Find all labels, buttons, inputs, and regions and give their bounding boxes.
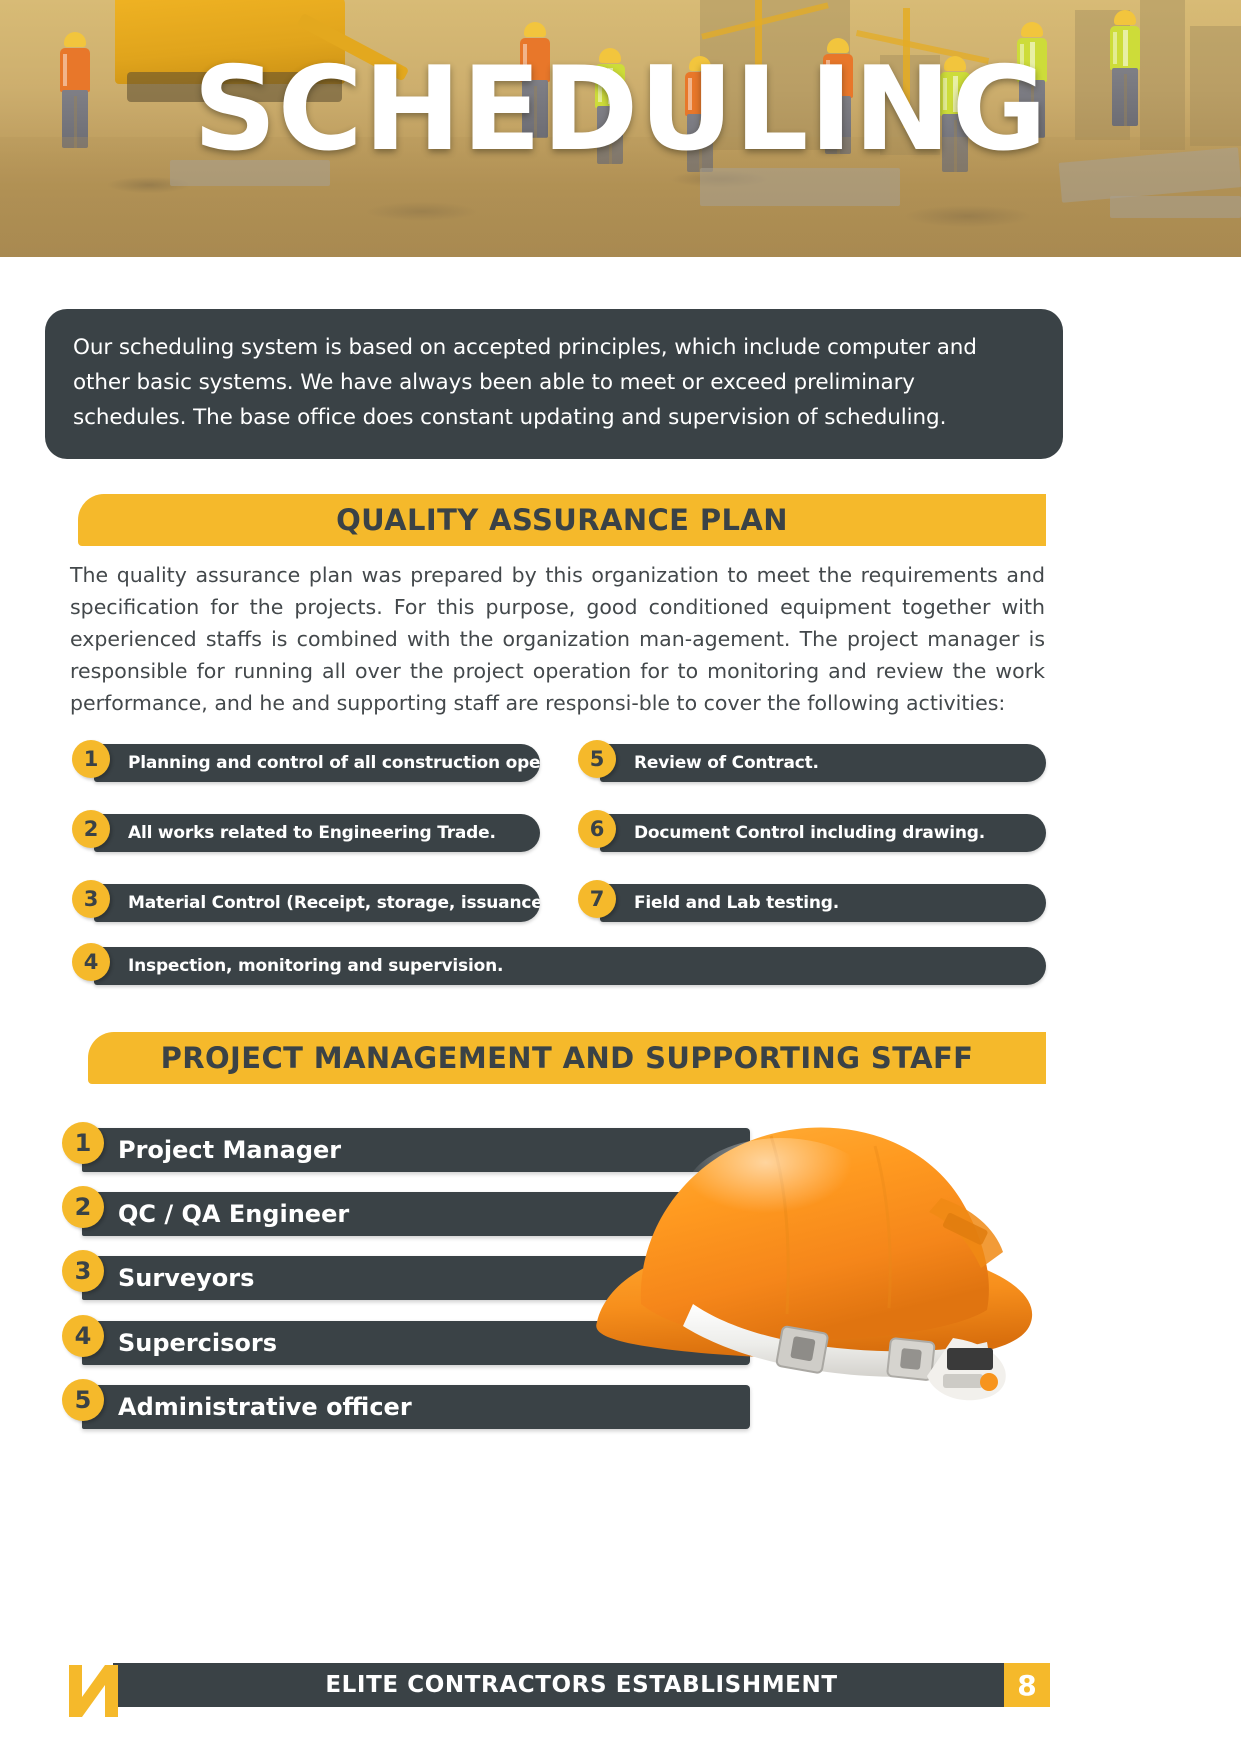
company-name: ELITE CONTRACTORS ESTABLISHMENT (325, 1672, 837, 1698)
activity-pill: All works related to Engineering Trade. (94, 814, 540, 852)
list-item: Planning and control of all construction… (72, 740, 540, 782)
activity-label: All works related to Engineering Trade. (94, 823, 496, 843)
activity-number: 4 (72, 943, 110, 981)
list-item: Supercisors 4 (62, 1315, 752, 1365)
activity-label: Review of Contract. (600, 753, 819, 773)
footer-bar: ELITE CONTRACTORS ESTABLISHMENT 8 (113, 1663, 1050, 1707)
activity-label: Planning and control of all construction… (94, 753, 540, 773)
staff-bar: QC / QA Engineer (82, 1192, 750, 1236)
staff-label: Administrative officer (82, 1393, 412, 1421)
hero-banner: SCHEDULING (0, 0, 1241, 257)
list-item: Inspection, monitoring and supervision. … (72, 943, 1046, 985)
list-item: Field and Lab testing. 7 (578, 880, 1046, 922)
n-monogram-logo-icon (65, 1663, 127, 1719)
activity-pill: Material Control (Receipt, storage, issu… (94, 884, 540, 922)
activity-number: 1 (72, 740, 110, 778)
intro-card: Our scheduling system is based on accept… (45, 309, 1063, 459)
list-item: Review of Contract. 5 (578, 740, 1046, 782)
activity-label: Material Control (Receipt, storage, issu… (94, 893, 540, 913)
activity-pill: Field and Lab testing. (600, 884, 1046, 922)
section-header-project-management: PROJECT MANAGEMENT AND SUPPORTING STAFF (88, 1032, 1046, 1084)
list-item: All works related to Engineering Trade. … (72, 810, 540, 852)
quality-assurance-paragraph: The quality assurance plan was prepared … (70, 560, 1045, 720)
staff-bar: Administrative officer (82, 1385, 750, 1429)
activity-number: 3 (72, 880, 110, 918)
staff-label: Project Manager (82, 1136, 341, 1164)
activity-pill: Inspection, monitoring and supervision. (94, 947, 1046, 985)
document-page: SCHEDULING Our scheduling system is base… (0, 0, 1241, 1754)
activity-number: 6 (578, 810, 616, 848)
staff-bar: Surveyors (82, 1256, 750, 1300)
list-item: QC / QA Engineer 2 (62, 1186, 752, 1236)
staff-label: QC / QA Engineer (82, 1200, 349, 1228)
activity-pill: Planning and control of all construction… (94, 744, 540, 782)
intro-text: Our scheduling system is based on accept… (73, 331, 1035, 435)
page-number-badge: 8 (1004, 1663, 1050, 1707)
staff-number: 2 (62, 1186, 104, 1228)
list-item: Administrative officer 5 (62, 1379, 752, 1429)
section-title: QUALITY ASSURANCE PLAN (336, 503, 788, 537)
staff-label: Surveyors (82, 1264, 254, 1292)
staff-number: 3 (62, 1250, 104, 1292)
staff-number: 1 (62, 1122, 104, 1164)
activity-number: 7 (578, 880, 616, 918)
staff-number: 4 (62, 1315, 104, 1357)
staff-label: Supercisors (82, 1329, 277, 1357)
staff-bar: Supercisors (82, 1321, 750, 1365)
activity-pill: Document Control including drawing. (600, 814, 1046, 852)
lumber-stack (1110, 196, 1241, 218)
footer: ELITE CONTRACTORS ESTABLISHMENT 8 (65, 1663, 1050, 1707)
activity-label: Field and Lab testing. (600, 893, 839, 913)
activity-number: 5 (578, 740, 616, 778)
list-item: Surveyors 3 (62, 1250, 752, 1300)
section-title: PROJECT MANAGEMENT AND SUPPORTING STAFF (161, 1041, 974, 1075)
activity-pill: Review of Contract. (600, 744, 1046, 782)
staff-number: 5 (62, 1379, 104, 1421)
activity-label: Document Control including drawing. (600, 823, 985, 843)
list-item: Document Control including drawing. 6 (578, 810, 1046, 852)
list-item: Material Control (Receipt, storage, issu… (72, 880, 540, 922)
activity-number: 2 (72, 810, 110, 848)
staff-bar: Project Manager (82, 1128, 750, 1172)
page-title: SCHEDULING (0, 52, 1241, 168)
activity-label: Inspection, monitoring and supervision. (94, 956, 503, 976)
section-header-quality-assurance: QUALITY ASSURANCE PLAN (78, 494, 1046, 546)
list-item: Project Manager 1 (62, 1122, 752, 1172)
